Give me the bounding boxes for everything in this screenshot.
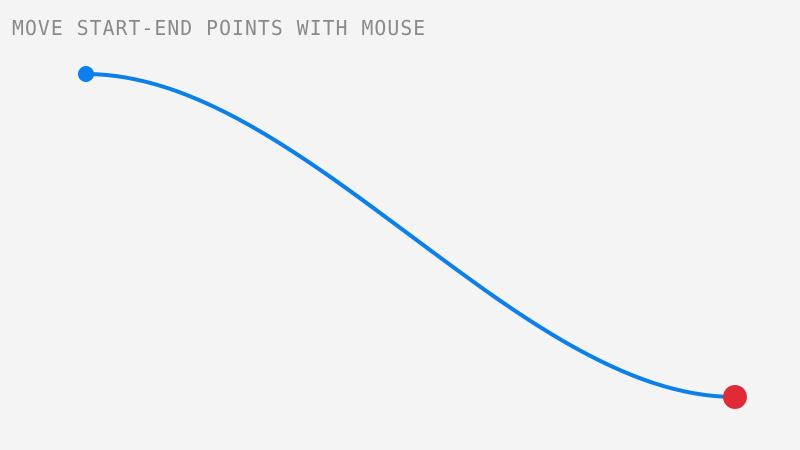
end-point-drag-target[interactable] — [723, 385, 747, 409]
canvas-stage[interactable]: MOVE START-END POINTS WITH MOUSE — [0, 0, 800, 450]
bezier-curve-path — [86, 74, 735, 397]
start-point-drag-target[interactable] — [78, 66, 94, 82]
bezier-canvas — [0, 0, 800, 450]
